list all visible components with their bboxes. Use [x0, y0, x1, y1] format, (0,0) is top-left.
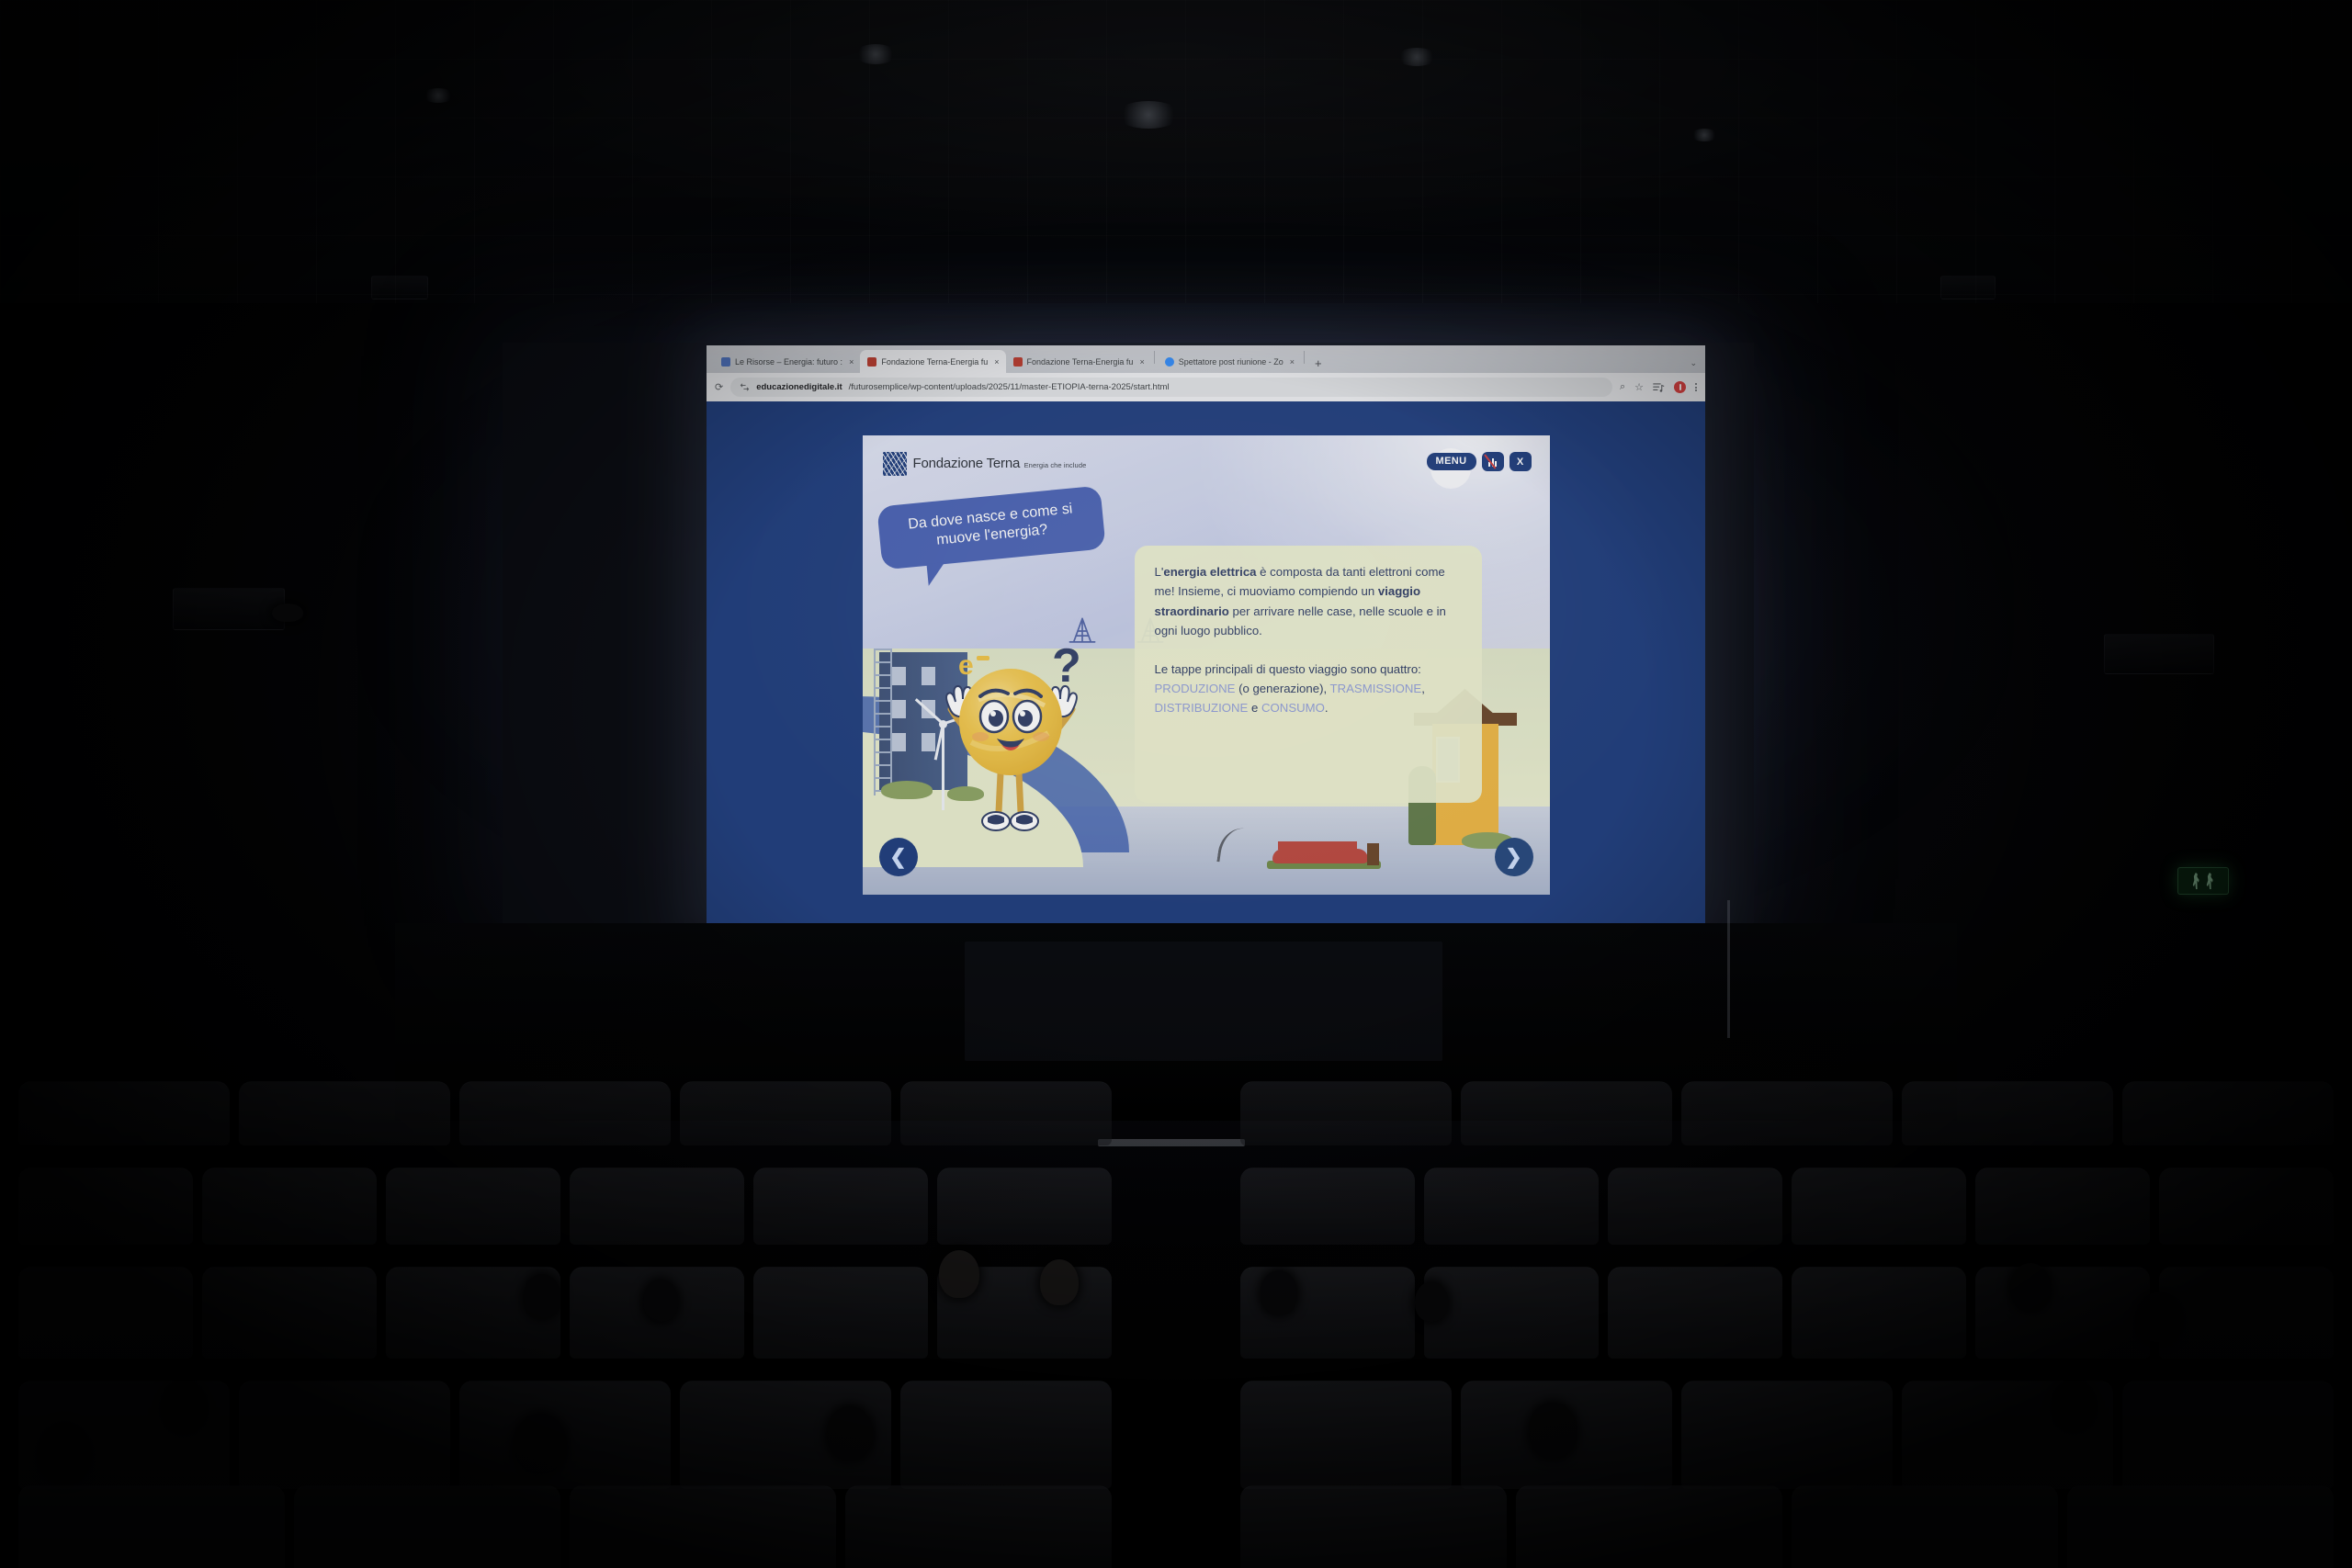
- audience-head: [2010, 1263, 2051, 1311]
- electron-mascot: e: [923, 615, 1098, 845]
- audience-head: [1261, 1270, 1297, 1314]
- tab-title: Fondazione Terna-Energia fu: [1027, 357, 1134, 367]
- seat-row: [0, 1081, 2352, 1145]
- browser-window: Le Risorse – Energia: futuro : × Fondazi…: [707, 345, 1705, 929]
- extension-icon[interactable]: [1653, 382, 1665, 393]
- next-slide-button[interactable]: ❯: [1495, 838, 1533, 876]
- exit-sign: [2177, 867, 2229, 895]
- audience-head: [40, 1425, 88, 1480]
- seat-row: [0, 1381, 2352, 1489]
- ceiling-light: [1690, 129, 1718, 141]
- audience-head: [2052, 1381, 2095, 1430]
- brand-tagline: Energia che include: [1024, 461, 1087, 469]
- site-settings-icon[interactable]: [740, 382, 750, 392]
- wall-panel: [371, 276, 428, 299]
- audience-head: [514, 1414, 566, 1472]
- toolbar-actions: ⌕ ☆: [1620, 381, 1697, 393]
- ceiling-grid: [0, 0, 2352, 303]
- audience-head: [1040, 1259, 1079, 1305]
- audience-head: [162, 1381, 206, 1432]
- slide-text-card: L'energia elettrica è composta da tanti …: [1135, 546, 1482, 803]
- tab-title: Fondazione Terna-Energia fu: [881, 357, 988, 367]
- tab-search-chevron-down-icon[interactable]: ⌄: [1681, 358, 1705, 373]
- seat-row: [0, 1267, 2352, 1359]
- tab-strip: Le Risorse – Energia: futuro : × Fondazi…: [707, 345, 1705, 373]
- brand-logo: Fondazione Terna Energia che include: [883, 452, 1087, 476]
- ceiling-light: [854, 44, 897, 64]
- tab-close-icon[interactable]: ×: [849, 357, 854, 367]
- ceiling-light: [1116, 101, 1181, 129]
- paragraph-1: L'energia elettrica è composta da tanti …: [1155, 562, 1462, 641]
- browser-menu-icon[interactable]: [1695, 383, 1697, 391]
- terna-logo-icon: [883, 452, 907, 476]
- wall-panel: [173, 588, 285, 630]
- audience-head: [272, 604, 303, 622]
- question-mark-icon: ?: [1052, 639, 1081, 693]
- audience-head: [827, 1406, 873, 1460]
- tab-title: Le Risorse – Energia: futuro :: [735, 357, 842, 367]
- keyword-distribuzione: DISTRIBUZIONE: [1155, 701, 1249, 715]
- ceiling-light: [423, 88, 454, 103]
- browser-tab[interactable]: Fondazione Terna-Energia fu ×: [1006, 350, 1151, 373]
- running-person-icon: [2205, 873, 2215, 889]
- url-path: /futurosemplice/wp-content/uploads/2025/…: [849, 382, 1170, 392]
- previous-slide-button[interactable]: ❮: [879, 838, 918, 876]
- tab-favicon-icon: [721, 357, 730, 367]
- tab-divider: [1154, 351, 1155, 364]
- tab-title: Spettatore post riunione - Zo: [1179, 357, 1283, 367]
- paragraph-2: Le tappe principali di questo viaggio so…: [1155, 660, 1462, 718]
- tab-close-icon[interactable]: ×: [1290, 357, 1295, 367]
- slide-controls: MENU X: [1427, 452, 1532, 471]
- keyword-consumo: CONSUMO: [1261, 701, 1325, 715]
- address-bar[interactable]: educazionedigitale.it/futurosemplice/wp-…: [730, 378, 1612, 397]
- tab-favicon-icon: [1013, 357, 1023, 367]
- bookmark-star-icon[interactable]: ☆: [1634, 381, 1644, 393]
- browser-tab-active[interactable]: Fondazione Terna-Energia fu ×: [860, 350, 1005, 373]
- wall-panel: [1940, 276, 1996, 299]
- presentation-slide: Fondazione Terna Energia che include MEN…: [863, 435, 1550, 895]
- reload-icon[interactable]: ⟳: [715, 381, 723, 393]
- audience-head: [1415, 1281, 1448, 1322]
- seat-row: [0, 1485, 2352, 1568]
- search-icon[interactable]: ⌕: [1620, 381, 1625, 393]
- keyword-trasmissione: TRASMISSIONE: [1330, 682, 1422, 695]
- audience-head: [939, 1250, 979, 1298]
- new-tab-button[interactable]: +: [1307, 356, 1329, 373]
- audience-head: [1529, 1403, 1577, 1458]
- tab-close-icon[interactable]: ×: [994, 357, 999, 367]
- tab-divider: [1304, 351, 1305, 364]
- audience-head: [643, 1280, 678, 1322]
- seat-row: [0, 1168, 2352, 1245]
- keyword-produzione: PRODUZIONE: [1155, 682, 1236, 695]
- tab-favicon-icon: [1165, 357, 1174, 367]
- audience-head: [524, 1274, 560, 1318]
- svg-text:e: e: [958, 650, 974, 681]
- browser-tab[interactable]: Spettatore post riunione - Zo ×: [1158, 350, 1301, 373]
- close-button[interactable]: X: [1510, 452, 1532, 471]
- wall-panel: [2104, 634, 2214, 674]
- browser-tab[interactable]: Le Risorse – Energia: futuro : ×: [714, 350, 860, 373]
- brand-name: Fondazione Terna: [913, 456, 1021, 471]
- audience-seating: [0, 998, 2352, 1568]
- tab-close-icon[interactable]: ×: [1139, 357, 1144, 367]
- profile-avatar[interactable]: [1674, 381, 1686, 393]
- auditorium-room: Le Risorse – Energia: futuro : × Fondazi…: [0, 0, 2352, 1568]
- audience-head: [2137, 1292, 2179, 1342]
- ceiling-light: [1396, 48, 1437, 66]
- menu-button[interactable]: MENU: [1427, 453, 1476, 470]
- park-bench: [1267, 841, 1381, 869]
- scaffolding: [874, 649, 892, 795]
- tab-favicon-icon: [867, 357, 876, 367]
- running-person-icon: [2191, 873, 2201, 889]
- page-content: Fondazione Terna Energia che include MEN…: [707, 401, 1705, 929]
- url-host: educazionedigitale.it: [756, 382, 842, 392]
- audio-mute-button[interactable]: [1482, 452, 1504, 471]
- browser-toolbar: ⟳ educazionedigitale.it/futurosemplice/w…: [707, 373, 1705, 401]
